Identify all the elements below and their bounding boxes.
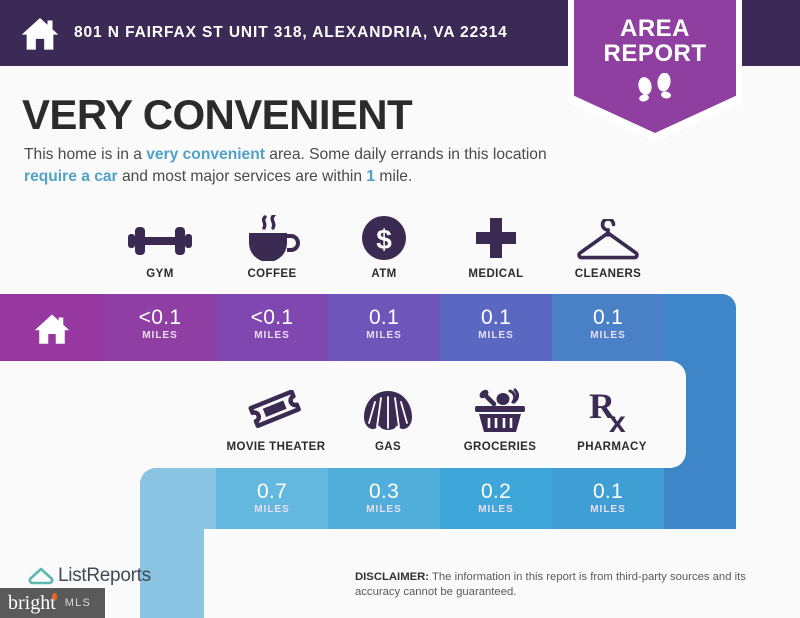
amenity-label: GROCERIES bbox=[444, 441, 556, 453]
distance-value: 0.2 bbox=[440, 468, 552, 503]
bright-mls-wordmark: bright bbox=[8, 592, 56, 615]
medical-cross-icon bbox=[474, 217, 518, 261]
amenity-label: PHARMACY bbox=[556, 441, 668, 453]
amenity-groceries: GROCERIES bbox=[444, 388, 556, 453]
disclaimer-label: DISCLAIMER: bbox=[355, 571, 429, 583]
summary-highlight-2: require a car bbox=[24, 168, 118, 185]
amenity-label: GAS bbox=[332, 441, 444, 453]
clothes-hanger-icon bbox=[577, 219, 639, 261]
amenity-movie-theater: MOVIE THEATER bbox=[220, 388, 332, 453]
bright-mls-accent-dot bbox=[52, 593, 57, 600]
distance-value: 0.7 bbox=[216, 468, 328, 503]
summary-part-1: This home is in a bbox=[24, 146, 146, 163]
amenity-icon-row-1: GYM COFFEE $ ATM bbox=[104, 215, 664, 280]
distance-value: 0.1 bbox=[440, 294, 552, 329]
amenity-gym: GYM bbox=[104, 215, 216, 280]
distance-unit: MILES bbox=[552, 504, 664, 515]
amenity-pharmacy: R x PHARMACY bbox=[556, 388, 668, 453]
dumbbell-icon bbox=[126, 221, 194, 261]
summary-part-4: mile. bbox=[375, 168, 412, 185]
distance-value: 0.3 bbox=[328, 468, 440, 503]
home-icon bbox=[34, 311, 70, 345]
amenity-gas: GAS bbox=[332, 388, 444, 453]
page-title: VERY CONVENIENT bbox=[22, 91, 412, 139]
summary-highlight-3: 1 bbox=[366, 168, 375, 185]
bright-mls-suffix: MLS bbox=[65, 597, 91, 609]
amenity-label: MEDICAL bbox=[440, 268, 552, 280]
bar-segment-medical: 0.1 MILES bbox=[440, 294, 552, 361]
footprints-icon bbox=[629, 73, 681, 103]
amenity-label: GYM bbox=[104, 268, 216, 280]
distance-bar-row-2: 0.7 MILES 0.3 MILES 0.2 MILES 0.1 MILES bbox=[140, 468, 736, 529]
bar-segment-gym: <0.1 MILES bbox=[104, 294, 216, 361]
bar-segment-movie-theater: 0.7 MILES bbox=[216, 468, 328, 529]
amenity-label: COFFEE bbox=[216, 268, 328, 280]
grocery-basket-icon bbox=[472, 388, 528, 434]
disclaimer: DISCLAIMER: The information in this repo… bbox=[355, 570, 775, 600]
home-icon bbox=[20, 13, 60, 53]
amenity-label: CLEANERS bbox=[552, 268, 664, 280]
distance-bar-row-1: <0.1 MILES <0.1 MILES 0.1 MILES 0.1 MILE… bbox=[0, 294, 736, 361]
bar-segment-pharmacy: 0.1 MILES bbox=[552, 468, 664, 529]
bar-segment-gas: 0.3 MILES bbox=[328, 468, 440, 529]
distance-unit: MILES bbox=[440, 330, 552, 341]
amenity-coffee: COFFEE bbox=[216, 215, 328, 280]
distance-unit: MILES bbox=[328, 504, 440, 515]
bar-segment-coffee: <0.1 MILES bbox=[216, 294, 328, 361]
area-report-infographic: 801 N FAIRFAX ST UNIT 318, ALEXANDRIA, V… bbox=[0, 0, 800, 618]
svg-text:x: x bbox=[609, 406, 626, 434]
pharmacy-rx-icon: R x bbox=[589, 388, 635, 434]
listreports-logo: ListReports bbox=[28, 565, 151, 587]
bar-segment-atm: 0.1 MILES bbox=[328, 294, 440, 361]
summary-highlight-1: very convenient bbox=[146, 146, 265, 163]
badge-line-1: AREA bbox=[574, 16, 736, 41]
dollar-circle-icon: $ bbox=[361, 215, 407, 261]
bar-home-segment bbox=[0, 294, 104, 361]
distance-value: <0.1 bbox=[216, 294, 328, 329]
distance-value: 0.1 bbox=[552, 468, 664, 503]
movie-ticket-icon bbox=[248, 390, 304, 434]
distance-value: 0.1 bbox=[328, 294, 440, 329]
bright-mls-logo: bright MLS bbox=[0, 588, 105, 618]
bar-segment-turn bbox=[664, 294, 736, 361]
amenity-label: MOVIE THEATER bbox=[220, 441, 332, 453]
coffee-cup-icon bbox=[243, 215, 301, 261]
distance-value: <0.1 bbox=[104, 294, 216, 329]
amenity-medical: MEDICAL bbox=[440, 215, 552, 280]
gas-shell-icon bbox=[363, 390, 413, 434]
distance-unit: MILES bbox=[216, 504, 328, 515]
distance-unit: MILES bbox=[216, 330, 328, 341]
bar-segment-groceries: 0.2 MILES bbox=[440, 468, 552, 529]
bright-mls-word: bright bbox=[8, 592, 56, 614]
bar-segment-tail bbox=[140, 468, 216, 529]
distance-unit: MILES bbox=[552, 330, 664, 341]
property-address: 801 N FAIRFAX ST UNIT 318, ALEXANDRIA, V… bbox=[74, 24, 508, 42]
amenity-cleaners: CLEANERS bbox=[552, 215, 664, 280]
amenity-atm: $ ATM bbox=[328, 215, 440, 280]
amenity-label: ATM bbox=[328, 268, 440, 280]
distance-unit: MILES bbox=[104, 330, 216, 341]
summary-part-2: area. Some daily errands in this locatio… bbox=[265, 146, 547, 163]
badge-line-2: REPORT bbox=[574, 41, 736, 66]
summary-part-3: and most major services are within bbox=[118, 168, 367, 185]
summary-text: This home is in a very convenient area. … bbox=[24, 144, 569, 188]
bar-segment-cleaners: 0.1 MILES bbox=[552, 294, 664, 361]
listreports-name: ListReports bbox=[58, 565, 151, 587]
distance-value: 0.1 bbox=[552, 294, 664, 329]
bar-segment-head bbox=[664, 468, 736, 529]
svg-text:$: $ bbox=[376, 224, 392, 255]
amenity-icon-row-2: MOVIE THEATER GAS bbox=[220, 388, 668, 453]
listreports-house-icon bbox=[28, 566, 54, 586]
distance-unit: MILES bbox=[328, 330, 440, 341]
distance-unit: MILES bbox=[440, 504, 552, 515]
